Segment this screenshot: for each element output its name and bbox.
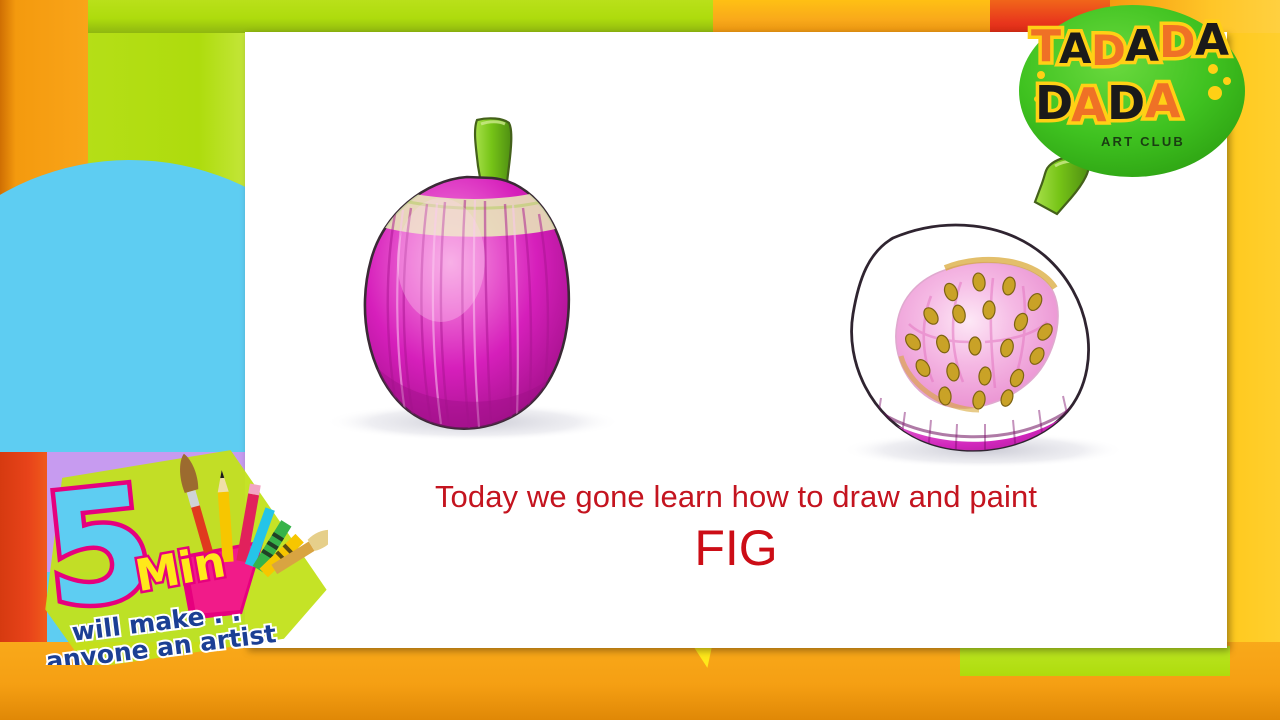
svg-text:D: D — [1035, 76, 1073, 130]
halved-fig — [837, 157, 1115, 474]
frame-top-orange-band — [713, 0, 990, 33]
slide-canvas: Today we gone learn how to draw and pain… — [0, 0, 1280, 720]
caption-block: Today we gone learn how to draw and pain… — [245, 478, 1227, 608]
svg-text:A: A — [1059, 24, 1092, 73]
svg-text:A: A — [1071, 78, 1107, 132]
svg-text:D: D — [1091, 26, 1126, 75]
logo-tagline: ART CLUB — [1101, 134, 1185, 149]
svg-text:D: D — [1159, 17, 1196, 68]
whole-fig — [355, 118, 581, 442]
frame-bottom-green-patch — [960, 646, 1230, 676]
whole-fig-stem — [475, 118, 511, 183]
frame-top-green-band — [88, 0, 713, 33]
caption-line-1: Today we gone learn how to draw and pain… — [245, 478, 1227, 516]
svg-text:D: D — [1107, 76, 1145, 130]
svg-text:T: T — [1031, 21, 1062, 72]
tada-dada-logo[interactable]: T A D A D A D A D A ART CLUB — [1017, 3, 1247, 178]
svg-text:A: A — [1195, 15, 1229, 66]
svg-text:A: A — [1145, 74, 1181, 128]
five-min-logo[interactable]: 5 Min will make . . anyone an artist — [28, 450, 328, 665]
caption-line-2: FIG — [245, 520, 1227, 576]
logo-word-dada: D A D A — [1035, 74, 1181, 132]
svg-text:A: A — [1125, 21, 1159, 72]
